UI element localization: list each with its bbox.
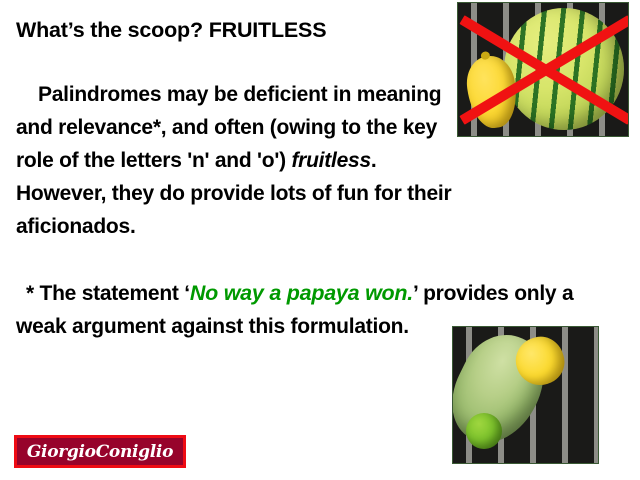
logo-text: GiorgioConiglio [27,442,173,462]
footnote-lead-text: The statement [40,282,185,305]
page-title: What’s the scoop? FRUITLESS [16,18,326,43]
body-paragraph: Palindromes may be deficient in meaning … [16,78,464,243]
body-line-1: Palindromes may be deficient [38,83,327,106]
palindrome-phrase: No way a papaya won. [190,281,413,305]
lime-shape [466,413,502,449]
footnote-line-3: against this formulation. [171,315,409,338]
footnote-marker: * [26,282,34,305]
quote-close-mark: ’ [413,282,417,305]
body-emphasis-fruitless: fruitless [291,149,370,172]
body-line-4-prefix: and 'o') [215,149,292,172]
papaya-lemon-lime-photo [452,326,599,464]
slide-canvas: What’s the scoop? FRUITLESS Palindromes … [0,0,640,480]
giorgio-coniglio-logo[interactable]: GiorgioConiglio [14,435,186,468]
watermelon-lemon-photo [457,2,629,137]
